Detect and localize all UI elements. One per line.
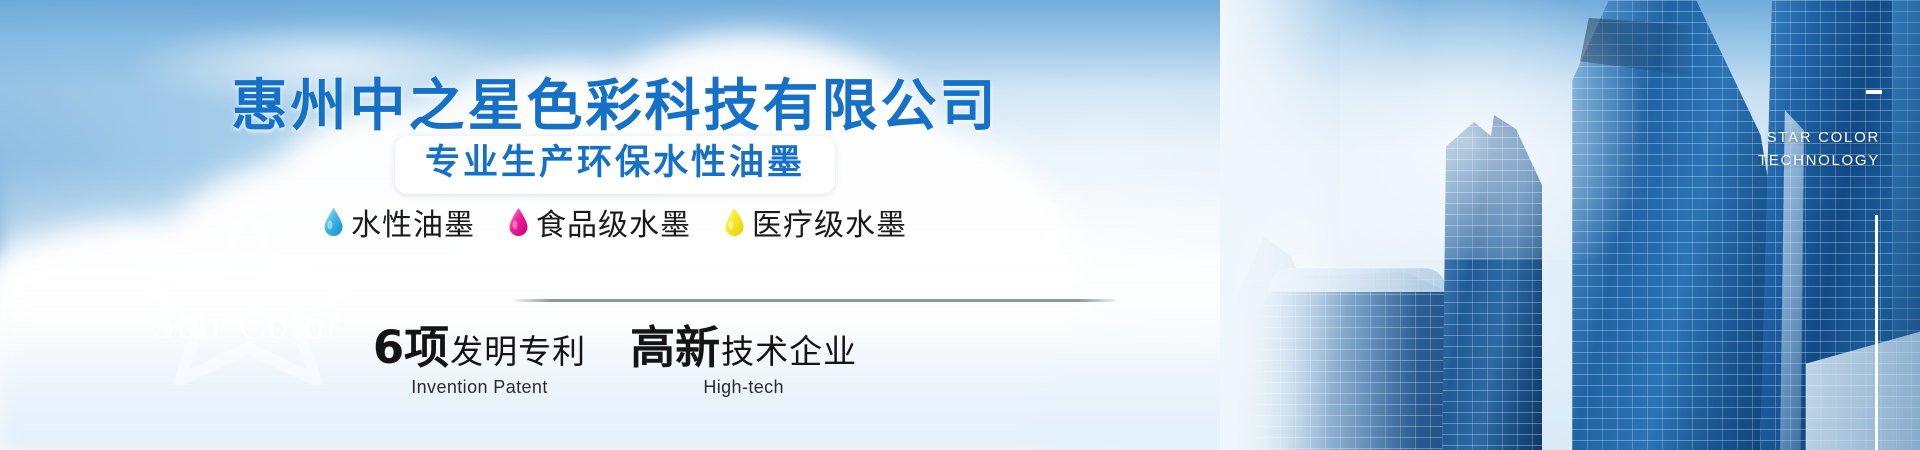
feature-label: 水性油墨 [351, 200, 475, 244]
tick-mark-top [1866, 90, 1882, 94]
feature-item-food-grade: 食品级水墨 [508, 200, 691, 244]
skyline-photo [1220, 0, 1920, 450]
vertical-rule [1875, 215, 1878, 450]
badge-light-text: 技术企业 [721, 335, 857, 368]
water-drop-icon [323, 207, 344, 237]
promo-banner: Star Color [0, 0, 1920, 450]
badge-invention-patent: 6项 发明专利 Invention Patent [373, 325, 586, 398]
corner-brand-line2: TECHNOLOGY [1758, 149, 1880, 172]
feature-label: 医疗级水墨 [752, 200, 907, 244]
feature-label: 食品级水墨 [536, 200, 691, 244]
badge-cn-line: 6项 发明专利 [373, 325, 586, 370]
tagline-pill: 专业生产环保水性油墨 [395, 136, 835, 194]
badge-en-text: Invention Patent [411, 377, 548, 398]
badge-en-text: High-tech [703, 377, 784, 398]
badge-strong-text: 高新 [630, 325, 720, 370]
content-block: 惠州中之星色彩科技有限公司 专业生产环保水性油墨 水性油墨 [0, 0, 1230, 450]
feature-item-medical-grade: 医疗级水墨 [724, 200, 907, 244]
tagline-pill-wrap: 专业生产环保水性油墨 [0, 136, 1230, 194]
corner-brand-label: STAR COLOR TECHNOLOGY [1758, 126, 1880, 173]
badge-high-tech: 高新 技术企业 High-tech [630, 325, 857, 398]
badge-cn-line: 高新 技术企业 [630, 325, 857, 370]
feature-list: 水性油墨 食品级水墨 [0, 200, 1230, 244]
water-drop-icon [508, 207, 529, 237]
corner-brand-line1: STAR COLOR [1758, 126, 1880, 149]
company-title: 惠州中之星色彩科技有限公司 [0, 61, 1230, 142]
badge-list: 6项 发明专利 Invention Patent 高新 技术企业 High-te… [0, 325, 1230, 398]
feature-item-water-ink: 水性油墨 [323, 200, 475, 244]
badge-strong-text: 6项 [373, 325, 449, 370]
badge-light-text: 发明专利 [450, 335, 586, 368]
water-drop-icon [724, 207, 745, 237]
section-divider [515, 299, 1115, 302]
